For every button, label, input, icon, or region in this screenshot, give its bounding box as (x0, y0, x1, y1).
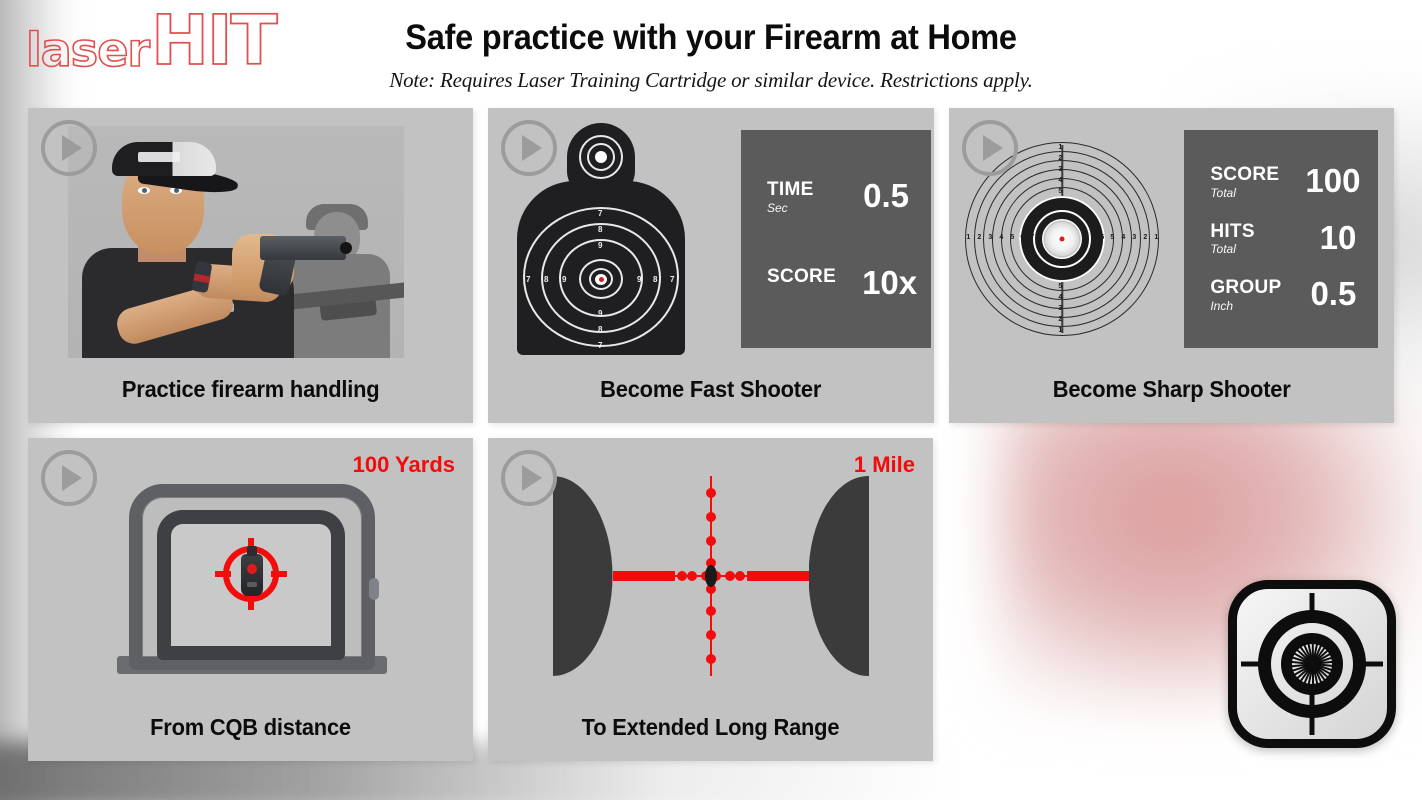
ring-number: 7 (670, 275, 674, 284)
crosshair-reticle-icon (215, 538, 287, 610)
bull-number: 4 (999, 234, 1003, 241)
ring-number: 7 (598, 341, 602, 350)
stat-row-score: SCORE 10x (767, 267, 909, 298)
ring-number: 9 (637, 275, 641, 284)
bull-number: 6 (1020, 234, 1024, 241)
scope-bracket-right (809, 476, 869, 676)
mildot (706, 512, 716, 522)
stat-row-time: TIME Sec 0.5 (767, 180, 909, 215)
mildot (706, 488, 716, 498)
stat-value: 10 (1320, 222, 1357, 253)
stat-row-score: SCORE Total 100 (1210, 165, 1356, 200)
hit-marker (1060, 237, 1065, 242)
bull-number: 5 (1010, 234, 1014, 241)
bull-number: 6 (1100, 234, 1104, 241)
ring-number: 8 (598, 325, 602, 334)
reticle-tick-bottom (248, 594, 254, 610)
stat-value: 0.5 (863, 180, 909, 211)
mildot (706, 606, 716, 616)
stat-row-hits: HITS Total 10 (1210, 222, 1356, 257)
mildot (687, 571, 697, 581)
foreground-shooter (82, 132, 314, 358)
laserhit-app-icon[interactable] (1228, 580, 1396, 748)
play-triangle (62, 465, 82, 491)
ring-number: 7 (526, 275, 530, 284)
device-laser-led (247, 564, 257, 574)
mildot (735, 571, 745, 581)
play-icon[interactable] (41, 120, 97, 176)
mildot (677, 571, 687, 581)
pistol-slide (260, 236, 346, 260)
bull-number: 4 (1121, 234, 1125, 241)
card-caption: Become Fast Shooter (499, 376, 922, 423)
play-triangle (522, 135, 542, 161)
mildot (663, 571, 673, 581)
bull-number: 5 (1058, 283, 1062, 290)
stat-label: SCORE (1210, 165, 1279, 185)
reticle-tick-left (215, 571, 231, 577)
bull-number: 3 (988, 234, 992, 241)
card-caption: To Extended Long Range (499, 714, 922, 761)
hit-marker (599, 277, 604, 282)
bull-number: 5 (1058, 188, 1062, 195)
play-icon[interactable] (962, 120, 1018, 176)
card-from-cqb-distance[interactable]: 100 Yards (28, 438, 473, 761)
page-root: laserHIT Safe practice with your Firearm… (0, 0, 1422, 800)
ring-number: 9 (562, 275, 566, 284)
device-button (247, 582, 257, 587)
ring-number: 8 (598, 225, 602, 234)
distance-badge: 100 Yards (353, 452, 455, 478)
bull-number: 3 (1058, 305, 1062, 312)
bull-number: 1 (966, 234, 970, 241)
reticle-tick-right (271, 571, 287, 577)
pistol-muzzle (340, 242, 352, 254)
play-icon[interactable] (41, 450, 97, 506)
bull-number: 4 (1058, 294, 1062, 301)
ring-number: 8 (544, 275, 548, 284)
head-bullseye (595, 151, 607, 163)
shooter-eye-left (138, 187, 150, 194)
bull-number: 2 (1058, 316, 1062, 323)
card-practice-firearm-handling[interactable]: Practice firearm handling (28, 108, 473, 423)
bull-number: 1 (1058, 327, 1062, 334)
ring-number: 7 (598, 209, 602, 218)
stats-panel-fast-shooter: TIME Sec 0.5 SCORE 10x (741, 130, 931, 348)
bull-number: 1 (1058, 144, 1062, 151)
stat-value: 0.5 (1310, 278, 1356, 309)
red-dot-sight (107, 478, 395, 674)
scope-mildot-reticle (553, 476, 869, 676)
stat-value: 100 (1305, 165, 1360, 196)
reticle-center-dot (705, 565, 717, 587)
stat-sublabel: Total (1210, 242, 1254, 256)
stat-sublabel: Total (1210, 186, 1279, 200)
bull-number: 3 (1132, 234, 1136, 241)
scope-bracket-left (553, 476, 613, 676)
page-header: laserHIT Safe practice with your Firearm… (0, 0, 1422, 108)
bull-number: 4 (1058, 177, 1062, 184)
page-title: Safe practice with your Firearm at Home (50, 0, 1372, 58)
bull-number: 1 (1154, 234, 1158, 241)
card-caption: Become Sharp Shooter (960, 376, 1383, 423)
mildot (706, 654, 716, 664)
cap-logo (138, 152, 180, 162)
card-to-extended-long-range[interactable]: 1 Mile (488, 438, 933, 761)
bull-number: 7 (1090, 234, 1094, 241)
mildot (706, 536, 716, 546)
mildot (725, 571, 735, 581)
stat-sublabel: Inch (1210, 299, 1281, 313)
bull-number: 7 (1030, 234, 1034, 241)
card-caption: Practice firearm handling (39, 376, 462, 423)
play-triangle (983, 135, 1003, 161)
play-icon[interactable] (501, 450, 557, 506)
device-top (247, 546, 257, 556)
bull-number: 3 (1058, 166, 1062, 173)
stat-label: GROUP (1210, 278, 1281, 298)
stat-value: 10x (862, 267, 917, 298)
play-icon[interactable] (501, 120, 557, 176)
bull-number: 2 (1143, 234, 1147, 241)
play-triangle (62, 135, 82, 161)
stat-label: TIME (767, 180, 814, 200)
bull-number: 2 (977, 234, 981, 241)
ring-number: 9 (598, 309, 602, 318)
photo-frame (68, 126, 404, 358)
stats-panel-sharp-shooter: SCORE Total 100 HITS Total 10 (1184, 130, 1378, 348)
play-triangle (522, 465, 542, 491)
laser-training-device (241, 554, 263, 596)
ring-number: 8 (653, 275, 657, 284)
ring-number: 9 (598, 241, 602, 250)
distance-badge: 1 Mile (854, 452, 915, 478)
card-become-sharp-shooter[interactable]: 1 2 3 4 5 6 7 7 6 5 4 3 2 1 1 (949, 108, 1394, 423)
app-icon-core (1305, 657, 1320, 672)
card-become-fast-shooter[interactable]: 7 8 9 7 8 9 9 8 7 9 8 7 (488, 108, 933, 423)
bull-number: 5 (1110, 234, 1114, 241)
card-caption: From CQB distance (39, 714, 462, 761)
stat-label: HITS (1210, 222, 1254, 242)
card-row-bottom: 100 Yards (0, 438, 1422, 761)
sight-adjustment-knob (369, 578, 379, 600)
stat-sublabel: Sec (767, 201, 814, 215)
mildot (706, 630, 716, 640)
stat-label: SCORE (767, 267, 836, 287)
stat-row-group: GROUP Inch 0.5 (1210, 278, 1356, 313)
card-row-top: Practice firearm handling (0, 108, 1422, 423)
mildot (749, 571, 759, 581)
bull-number: 2 (1058, 155, 1062, 162)
